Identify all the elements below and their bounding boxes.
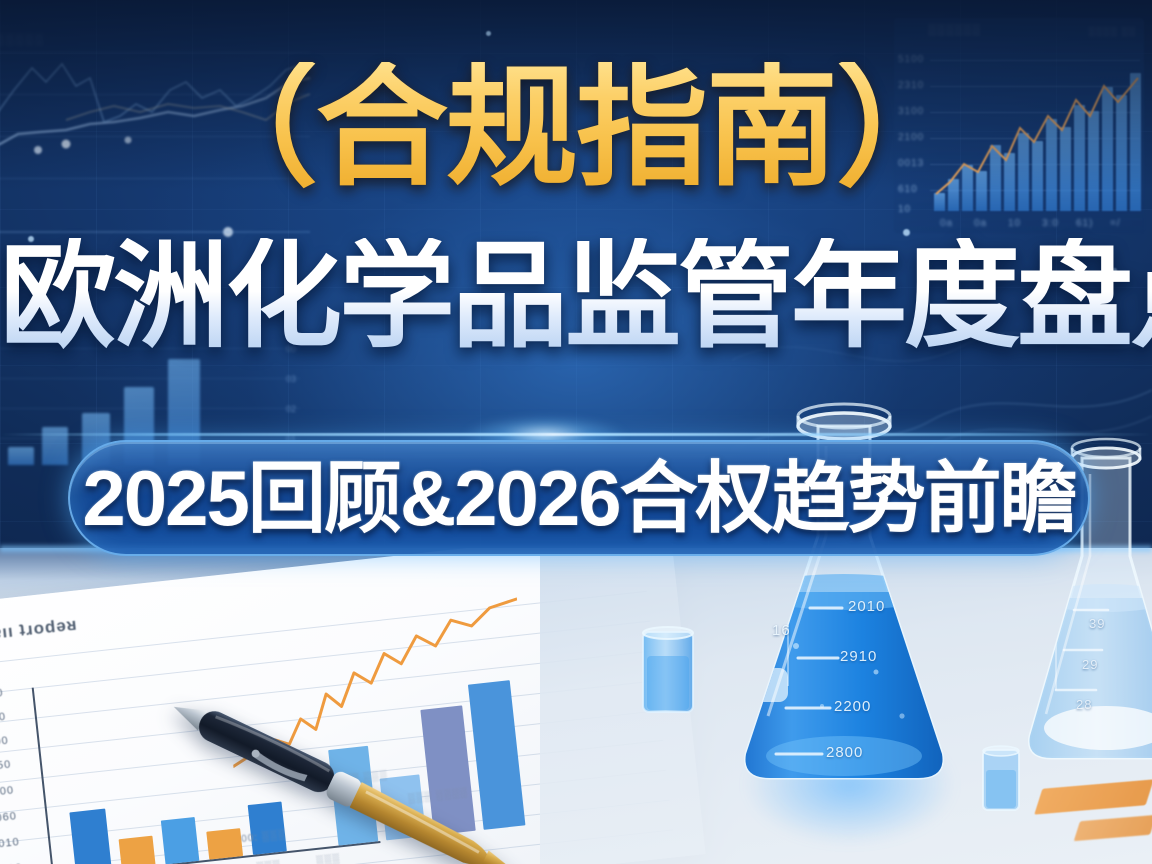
sparkle-dot [486,31,491,36]
banner-text: 2025回顾&2026合权趋势前瞻 [82,459,1075,537]
paper-ytick: 020 [0,711,7,725]
paper-bar [69,809,111,864]
paper-xtick: ░░░ [316,854,341,864]
paper-bar [248,801,287,854]
paper-bar [206,828,243,860]
banner-pill: 2025回顾&2026合权趋势前瞻 [68,440,1090,556]
paper-ytick: 060 [0,810,17,824]
poster-canvas: ░░░░░░ ░░░░░░ ░░░░ ░░ 5100 2310 3100 210… [0,0,1152,864]
paper-ytick: 300 [0,735,9,749]
paper-ytick: 150 [0,758,12,772]
page-subtitle-main: 欧洲化学品监管年度盘点 [0,238,1152,354]
paper-xtick: ░░░ [256,860,281,864]
beaker-icon [637,622,699,718]
paper-bar [119,836,156,864]
paper-header-text: sǝpɐıı ʇɹodǝᴚ [0,615,79,648]
paper-ytick: 010 [0,687,4,701]
lens-flare-line [0,433,1152,436]
page-title-bracketed: （合规指南） [0,62,1152,194]
paper-ytick: 100 [0,784,15,798]
paper-bar [161,817,200,864]
paper-ytick: 010 [0,836,20,850]
